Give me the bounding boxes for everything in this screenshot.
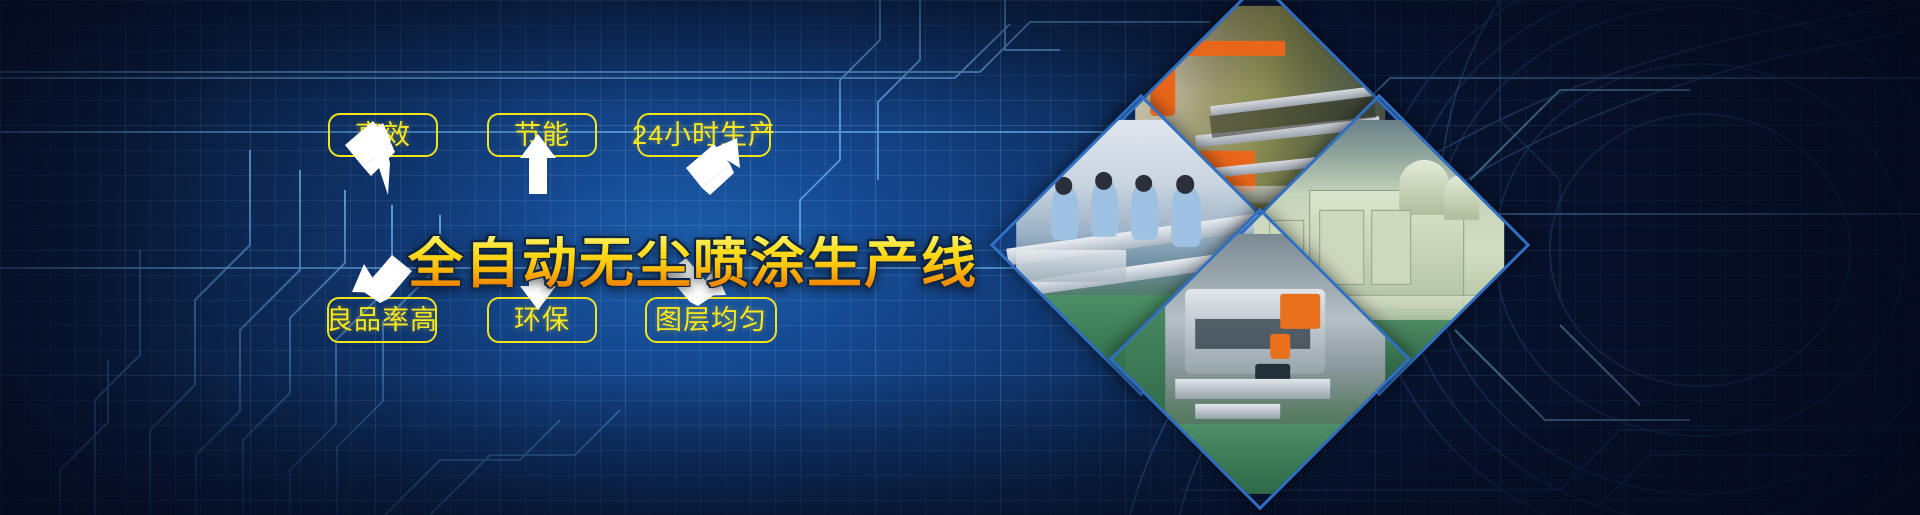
arrow-up-icon bbox=[520, 134, 556, 194]
arrow-up-right-icon bbox=[686, 138, 740, 195]
page-title: 全自动无尘喷涂生产线 bbox=[408, 236, 978, 291]
product-banner: 高效 节能 24小时生产 良品率高 环保 图层均匀 bbox=[0, 0, 1920, 515]
feature-cluster: 高效 节能 24小时生产 良品率高 环保 图层均匀 bbox=[0, 0, 1000, 515]
photo-collage bbox=[1040, 28, 1480, 488]
arrow-down-left-icon bbox=[352, 255, 412, 303]
arrow-up-left-icon bbox=[345, 121, 395, 195]
